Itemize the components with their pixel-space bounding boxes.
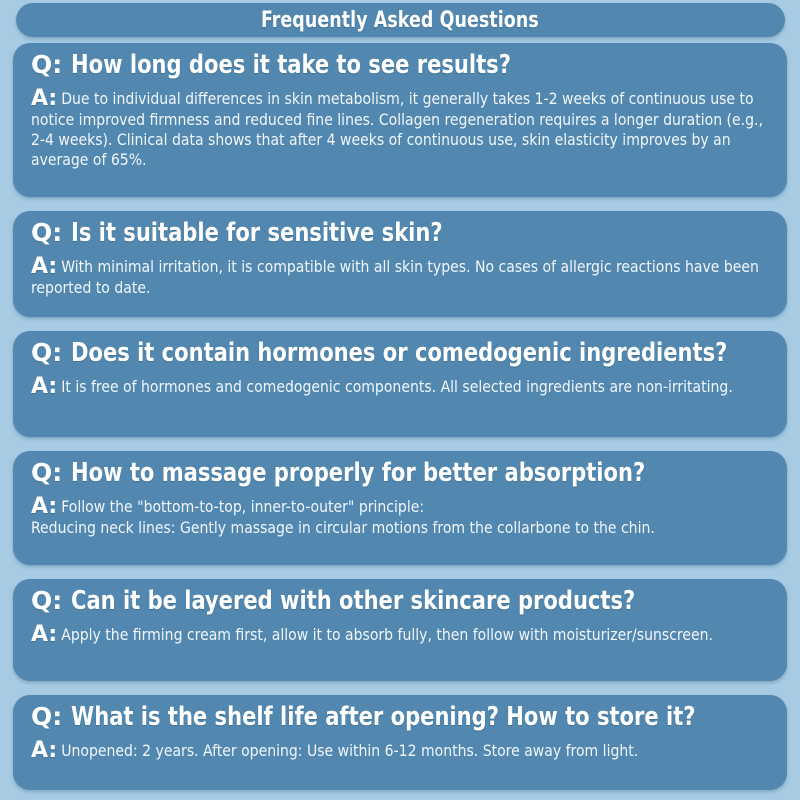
faq-answer-text: With minimal irritation, it is compatibl… [31, 258, 759, 297]
page-title-bar: Frequently Asked Questions [16, 3, 785, 37]
faq-question-row: Q: How long does it take to see results? [31, 50, 771, 82]
faq-question-text: Is it suitable for sensitive skin? [71, 218, 443, 250]
faq-answer-row: A:Follow the "bottom-to-top, inner-to-ou… [31, 496, 771, 538]
faq-answer-row: A:Apply the firming cream first, allow i… [31, 624, 771, 646]
faq-answer-text-line2: Reducing neck lines: Gently massage in c… [31, 518, 771, 538]
faq-item[interactable]: Q: How long does it take to see results?… [13, 43, 787, 197]
faq-answer-row: A:It is free of hormones and comedogenic… [31, 376, 771, 398]
answer-marker: A: [31, 254, 57, 279]
faq-item[interactable]: Q: What is the shelf life after opening?… [13, 695, 787, 790]
faq-infographic: Frequently Asked Questions Q: How long d… [0, 0, 800, 800]
question-marker: Q: [31, 586, 62, 617]
answer-marker: A: [31, 494, 57, 519]
question-marker: Q: [31, 458, 62, 489]
faq-question-text: How to massage properly for better absor… [71, 458, 645, 490]
faq-answer-text: It is free of hormones and comedogenic c… [61, 378, 733, 396]
faq-list: Q: How long does it take to see results?… [13, 43, 787, 790]
answer-marker: A: [31, 86, 57, 111]
faq-answer-row: A:With minimal irritation, it is compati… [31, 256, 771, 298]
faq-question-row: Q: Is it suitable for sensitive skin? [31, 218, 771, 250]
faq-question-row: Q: Can it be layered with other skincare… [31, 586, 771, 618]
faq-answer-text: Follow the "bottom-to-top, inner-to-oute… [61, 498, 424, 516]
faq-item[interactable]: Q: How to massage properly for better ab… [13, 451, 787, 565]
question-marker: Q: [31, 702, 62, 733]
faq-question-row: Q: Does it contain hormones or comedogen… [31, 338, 771, 370]
answer-marker: A: [31, 622, 57, 647]
answer-marker: A: [31, 738, 57, 763]
faq-question-text: How long does it take to see results? [71, 50, 511, 82]
question-marker: Q: [31, 218, 62, 249]
faq-answer-row: A:Unopened: 2 years. After opening: Use … [31, 740, 771, 762]
question-marker: Q: [31, 50, 62, 81]
faq-question-row: Q: What is the shelf life after opening?… [31, 702, 771, 734]
faq-question-text: What is the shelf life after opening? Ho… [71, 702, 696, 734]
faq-question-row: Q: How to massage properly for better ab… [31, 458, 771, 490]
faq-question-text: Does it contain hormones or comedogenic … [71, 338, 727, 370]
question-marker: Q: [31, 338, 62, 369]
faq-answer-row: A:Due to individual differences in skin … [31, 88, 771, 171]
faq-item[interactable]: Q: Can it be layered with other skincare… [13, 579, 787, 681]
faq-item[interactable]: Q: Is it suitable for sensitive skin? A:… [13, 211, 787, 317]
answer-marker: A: [31, 374, 57, 399]
page-title: Frequently Asked Questions [261, 8, 539, 33]
faq-answer-text: Due to individual differences in skin me… [31, 90, 763, 170]
faq-question-text: Can it be layered with other skincare pr… [71, 586, 635, 618]
faq-answer-text: Unopened: 2 years. After opening: Use wi… [61, 742, 638, 760]
faq-item[interactable]: Q: Does it contain hormones or comedogen… [13, 331, 787, 437]
faq-answer-text: Apply the firming cream first, allow it … [61, 626, 713, 644]
